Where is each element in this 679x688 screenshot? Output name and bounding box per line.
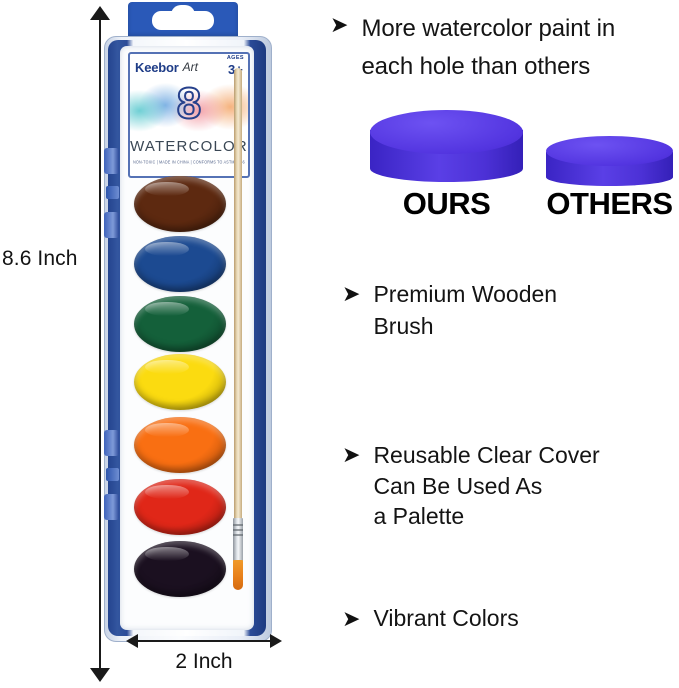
arrow-bullet-icon: ➤ [342, 283, 360, 305]
brand-suffix: Art [183, 60, 198, 74]
watercolor-wash-graphic: 8 [130, 80, 248, 136]
feature-text: Vibrant Colors [373, 604, 518, 634]
width-dimension-label: 2 Inch [126, 650, 282, 674]
feature-callout-column: ➤ More watercolor paint in each hole tha… [322, 0, 679, 688]
paint-pan [134, 354, 226, 410]
ours-label: OURS [370, 186, 523, 222]
case-hinge-clip [106, 468, 119, 481]
ages-word: AGES [227, 56, 244, 62]
hang-tab-hole [152, 11, 214, 30]
case-hinge-clip [104, 430, 119, 456]
puck-top [546, 136, 673, 166]
label-fine-print: NON-TOXIC | MADE IN CHINA | CONFORMS TO … [130, 160, 248, 165]
width-dimension-line [126, 632, 282, 650]
paint-volume-comparison: OURS OTHERS [344, 108, 679, 228]
product-type-text: WATERCOLOR [130, 138, 248, 155]
brush-ferrule [233, 518, 243, 562]
width-arrow-right [270, 634, 282, 648]
feature-wooden-brush: ➤ Premium Wooden Brush [342, 279, 679, 342]
paint-pan [134, 236, 226, 292]
paint-pan [134, 541, 226, 597]
brand-name: Keebor [135, 60, 179, 75]
feature-text: Reusable Clear Cover Can Be Used As a Pa… [373, 440, 599, 532]
paint-pan [134, 176, 226, 232]
feature-reusable-cover: ➤ Reusable Clear Cover Can Be Used As a … [342, 440, 679, 532]
paint-pan [134, 417, 226, 473]
brush-handle [234, 68, 242, 520]
feature-more-paint: ➤ More watercolor paint in each hole tha… [330, 10, 679, 86]
brush-bristles [233, 560, 243, 590]
package-hang-tab [128, 2, 238, 38]
case-hinge-clip [104, 212, 119, 238]
product-label: Keebor Art AGES 3+ 8 WATERCOLOR NON-TOXI… [128, 52, 250, 178]
arrow-bullet-icon: ➤ [342, 444, 360, 466]
feature-text: More watercolor paint in each hole than … [361, 10, 615, 86]
paint-pan [134, 296, 226, 352]
case-hinge-clip [104, 494, 119, 520]
paint-pan [134, 479, 226, 535]
arrow-bullet-icon: ➤ [342, 608, 360, 630]
others-paint-puck: OTHERS [546, 136, 673, 186]
ours-paint-puck: OURS [370, 110, 523, 182]
feature-text: Premium Wooden Brush [373, 279, 557, 342]
arrow-bullet-icon: ➤ [330, 14, 348, 36]
puck-top [370, 110, 523, 154]
width-dimension-shaft [136, 640, 272, 642]
case-hinge-clip [106, 186, 119, 199]
height-dimension-label: 8.6 Inch [2, 247, 78, 271]
color-count: 8 [130, 82, 248, 126]
label-header: Keebor Art AGES 3+ [130, 54, 248, 80]
feature-vibrant-colors: ➤ Vibrant Colors [342, 604, 679, 634]
height-arrow-bottom [90, 668, 110, 682]
others-label: OTHERS [546, 186, 673, 222]
case-hinge-clip [104, 148, 119, 174]
height-dimension-shaft [99, 16, 101, 672]
